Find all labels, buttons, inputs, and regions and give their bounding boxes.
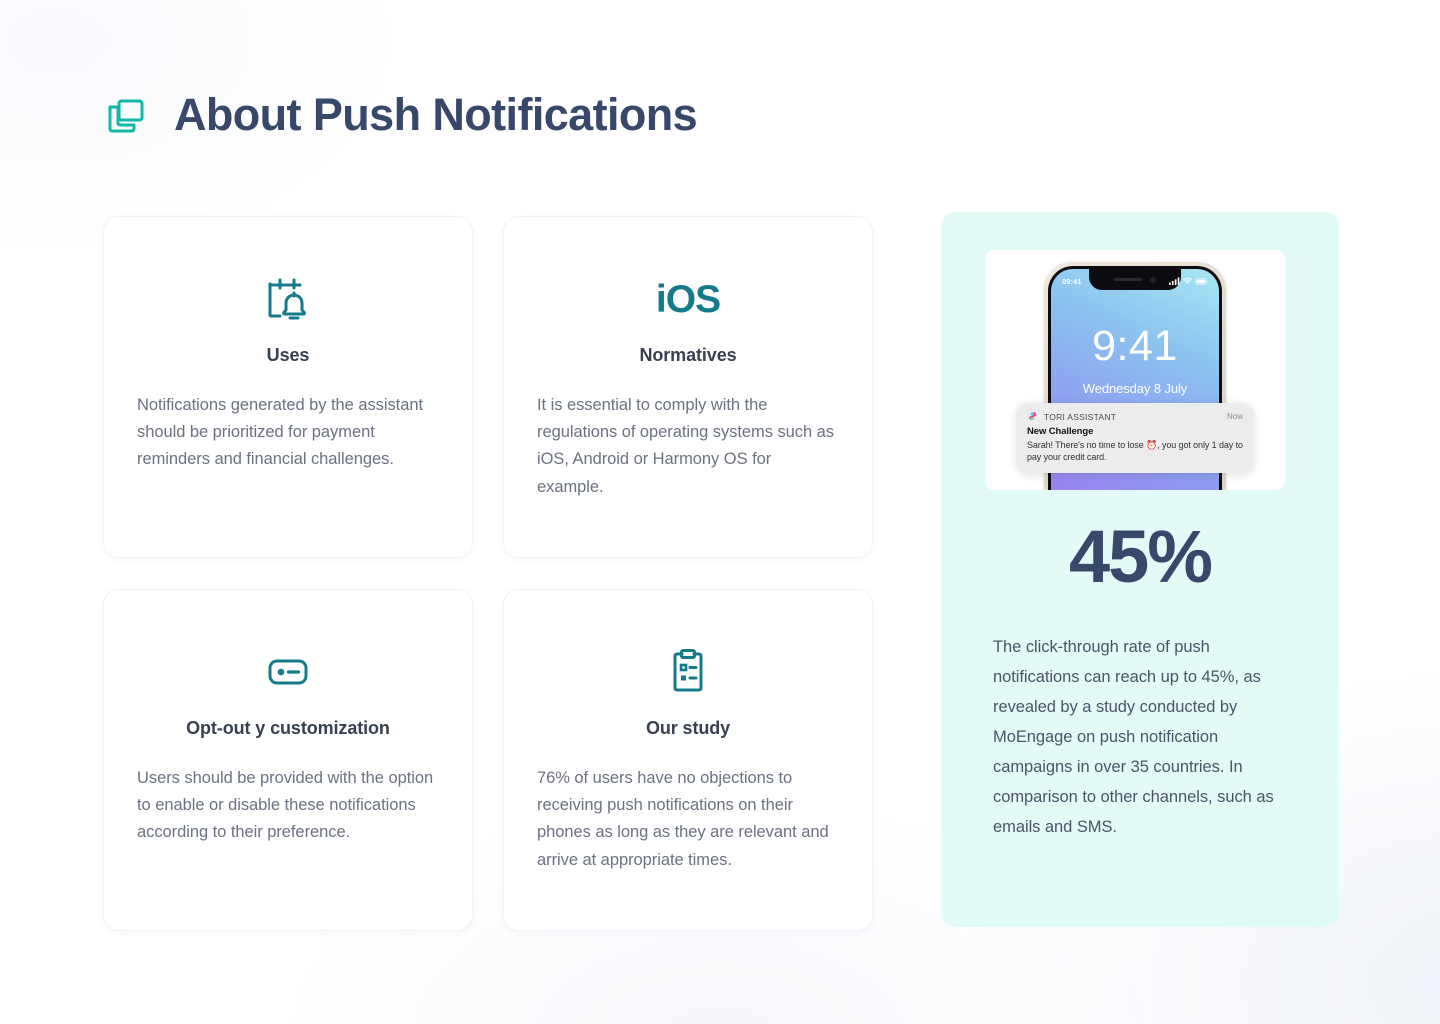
ios-wordmark-icon: iOS [656, 273, 720, 325]
card-title: Our study [646, 718, 730, 739]
phone-mockup-card: 09:41 [985, 250, 1285, 490]
phone-status-bar: 09:41 [1051, 272, 1219, 290]
card-body: 76% of users have no objections to recei… [537, 765, 839, 874]
stat-panel: 09:41 [941, 212, 1339, 927]
battery-icon [1195, 278, 1208, 285]
ios-label: iOS [656, 280, 720, 319]
alarm-clock-emoji: ⏰ [1146, 440, 1157, 450]
page-title: About Push Notifications [174, 92, 697, 137]
push-notification-banner[interactable]: TORI ASSISTANT Now New Challenge Sarah! … [1016, 403, 1254, 473]
card-body: It is essential to comply with the regul… [537, 392, 839, 501]
page-header: About Push Notifications [104, 92, 697, 137]
card-body: Notifications generated by the assistant… [137, 392, 439, 474]
copy-windows-icon [104, 93, 148, 137]
feature-card-normatives: iOS Normatives It is essential to comply… [503, 216, 873, 558]
wifi-icon [1183, 277, 1192, 285]
tori-app-icon [1027, 411, 1038, 422]
status-indicators [1169, 277, 1208, 285]
cellular-signal-icon [1169, 277, 1180, 285]
notification-header: TORI ASSISTANT Now [1027, 411, 1243, 422]
card-title: Opt-out y customization [186, 718, 390, 739]
feature-card-our-study: Our study 76% of users have no objection… [503, 589, 873, 931]
stat-number: 45% [941, 520, 1339, 594]
page-root: About Push Notifications Uses Notificati… [0, 0, 1440, 1024]
notification-title: New Challenge [1027, 426, 1243, 437]
card-title: Normatives [639, 345, 736, 366]
notification-app-name: TORI ASSISTANT [1044, 412, 1227, 422]
card-title: Uses [267, 345, 310, 366]
stat-description: The click-through rate of push notificat… [993, 632, 1289, 842]
clipboard-list-icon [662, 646, 714, 698]
feature-card-uses: Uses Notifications generated by the assi… [103, 216, 473, 558]
card-body: Users should be provided with the option… [137, 765, 439, 847]
feature-card-opt-out: Opt-out y customization Users should be … [103, 589, 473, 931]
toggle-switch-icon [262, 646, 314, 698]
notification-timestamp: Now [1227, 412, 1243, 421]
lockscreen-date: Wednesday 8 July [1051, 381, 1219, 396]
notification-body-prefix: Sarah! There's no time to lose [1027, 440, 1146, 450]
lockscreen-time: 9:41 [1051, 325, 1219, 368]
notification-body: Sarah! There's no time to lose ⏰, you go… [1027, 439, 1243, 463]
status-time: 09:41 [1062, 277, 1082, 286]
calendar-bell-icon [262, 273, 314, 325]
feature-card-grid: Uses Notifications generated by the assi… [103, 216, 873, 931]
